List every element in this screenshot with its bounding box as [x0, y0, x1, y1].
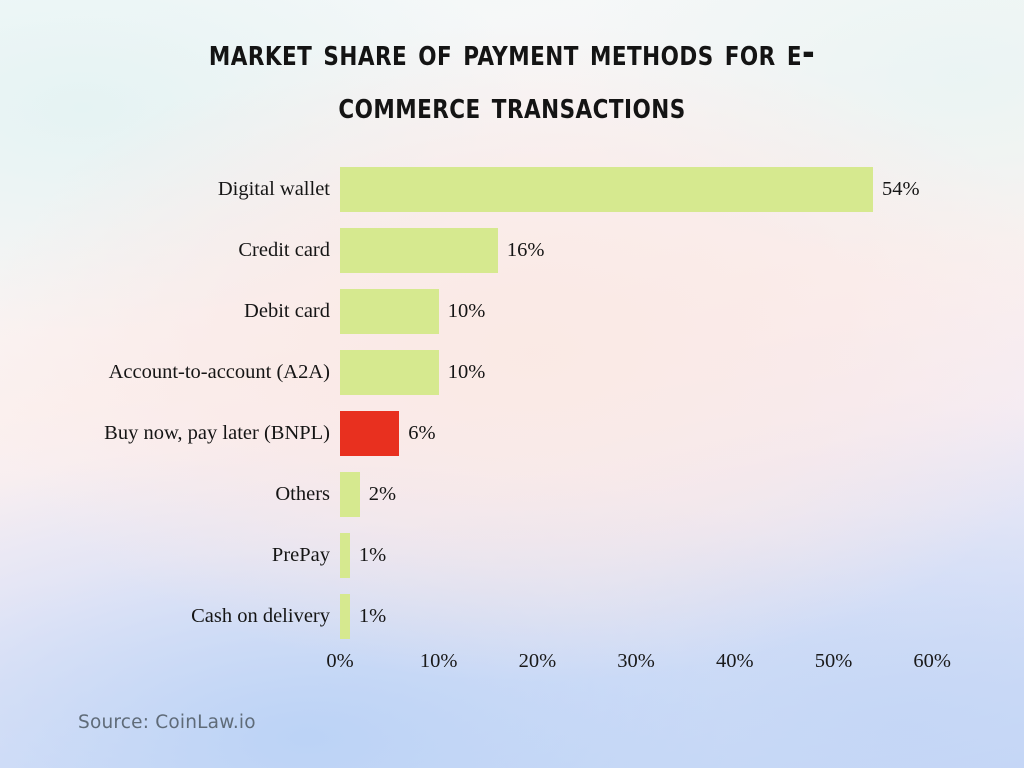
bar-row: Others2% [0, 472, 1024, 517]
x-axis: 0%10%20%30%40%50%60% [0, 650, 1024, 680]
bar-value-label: 10% [448, 289, 486, 334]
x-axis-tick-label: 40% [695, 650, 775, 673]
bar [340, 289, 439, 334]
bar-row: Cash on delivery1% [0, 594, 1024, 639]
x-axis-tick-label: 20% [497, 650, 577, 673]
bar-row: Digital wallet54% [0, 167, 1024, 212]
x-axis-tick-label: 10% [399, 650, 479, 673]
bar-highlighted [340, 411, 399, 456]
category-label: Debit card [244, 289, 330, 334]
bar [340, 228, 498, 273]
bar-value-label: 6% [408, 411, 435, 456]
category-label: Account-to-account (A2A) [109, 350, 330, 395]
bar-row: Credit card16% [0, 228, 1024, 273]
bar-row: Debit card10% [0, 289, 1024, 334]
chart-poster: Market Share of Payment Methods for E-co… [0, 0, 1024, 768]
category-label: Credit card [238, 228, 330, 273]
bar-row: Account-to-account (A2A)10% [0, 350, 1024, 395]
bar-value-label: 54% [882, 167, 920, 212]
category-label: Digital wallet [218, 167, 330, 212]
bar-row: PrePay1% [0, 533, 1024, 578]
source-attribution: Source: CoinLaw.io [78, 712, 256, 733]
bar [340, 350, 439, 395]
category-label: Others [275, 472, 330, 517]
bar [340, 167, 873, 212]
bar [340, 472, 360, 517]
x-axis-tick-label: 50% [794, 650, 874, 673]
category-label: Cash on delivery [191, 594, 330, 639]
x-axis-tick-label: 60% [892, 650, 972, 673]
bar [340, 533, 350, 578]
bar-value-label: 1% [359, 533, 386, 578]
x-axis-tick-label: 0% [300, 650, 380, 673]
bar-row: Buy now, pay later (BNPL)6% [0, 411, 1024, 456]
x-axis-tick-label: 30% [596, 650, 676, 673]
bar-value-label: 16% [507, 228, 545, 273]
bar-value-label: 2% [369, 472, 396, 517]
bar-value-label: 10% [448, 350, 486, 395]
category-label: Buy now, pay later (BNPL) [104, 411, 330, 456]
bar-value-label: 1% [359, 594, 386, 639]
bar [340, 594, 350, 639]
category-label: PrePay [272, 533, 330, 578]
